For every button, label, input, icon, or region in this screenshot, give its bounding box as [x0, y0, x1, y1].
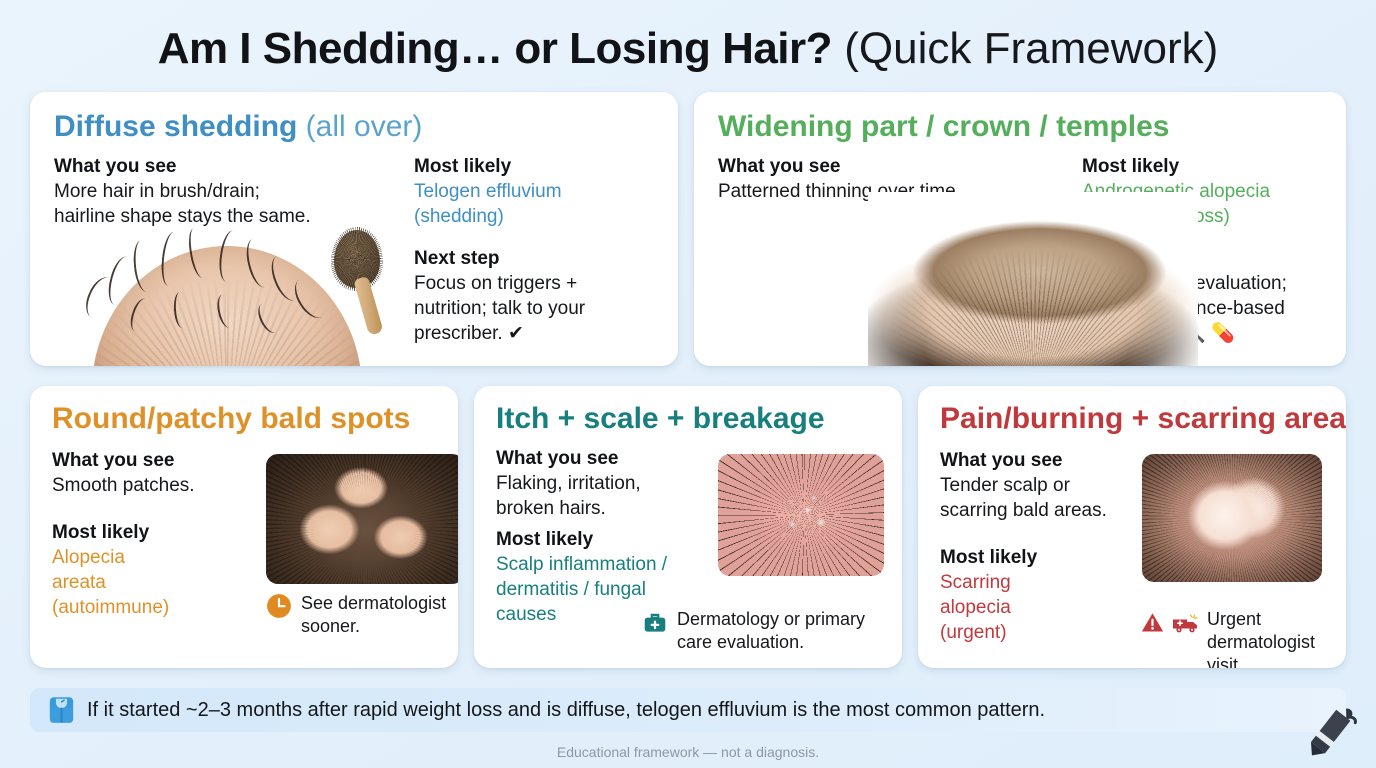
- card-itch-note-text: Dermatology or primary care evaluation.: [677, 608, 865, 654]
- card-itch-title-main: Itch + scale + breakage: [496, 402, 825, 435]
- page-title-main: Am I Shedding… or Losing Hair?: [158, 24, 832, 73]
- inflamed-flaking-scalp-photo: [718, 454, 884, 576]
- card-patchy-what-text: Smooth patches.: [52, 473, 252, 498]
- tip-banner: If it started ~2–3 months after rapid we…: [30, 688, 1346, 732]
- card-pattern-title: Widening part / crown / temples: [718, 110, 1169, 144]
- card-diffuse-likely-text: Telogen effluvium (shedding): [414, 179, 664, 229]
- card-pain-likely-text: Scarring alopecia (urgent): [940, 570, 1150, 645]
- card-itch-likely-label: Most likely: [496, 527, 716, 552]
- card-pain-title-main: Pain/burning + scarring areas: [940, 402, 1346, 435]
- card-patchy-title-main: Round/patchy bald spots: [52, 402, 410, 435]
- weight-scale-icon: [48, 695, 75, 725]
- card-itch-text-column: What you see Flaking, irritation, broken…: [496, 446, 716, 627]
- card-pain-what-label: What you see: [940, 448, 1150, 473]
- ambulance-icon: [1171, 610, 1201, 635]
- card-patchy-likely-text: Alopecia areata (autoimmune): [52, 545, 252, 620]
- card-pattern-title-main: Widening part / crown / temples: [718, 110, 1169, 143]
- card-itch-what-label: What you see: [496, 446, 716, 471]
- card-pattern-likely-label: Most likely: [1082, 154, 1340, 179]
- card-diffuse-title: Diffuse shedding (all over): [54, 110, 422, 144]
- card-patchy-likely-label: Most likely: [52, 520, 252, 545]
- thinning-scalp-with-hairbrush-illustration: [70, 228, 400, 366]
- medical-kit-icon: [642, 610, 668, 636]
- tip-banner-text: If it started ~2–3 months after rapid we…: [87, 698, 1045, 722]
- card-itch-note-row: Dermatology or primary care evaluation.: [642, 608, 894, 654]
- card-diffuse-next-text: Focus on triggers + nutrition; talk to y…: [414, 271, 664, 346]
- card-pain-what-text: Tender scalp or scarring bald areas.: [940, 473, 1150, 523]
- clock-icon: [266, 593, 292, 619]
- card-patchy-note-text: See dermatologist sooner.: [301, 592, 446, 638]
- receding-hairline-photo: [868, 192, 1198, 366]
- card-pain-burning-scarring: Pain/burning + scarring areas What you s…: [918, 386, 1346, 668]
- page-title: Am I Shedding… or Losing Hair? (Quick Fr…: [0, 18, 1376, 80]
- card-patchy-title: Round/patchy bald spots: [52, 402, 410, 436]
- card-pattern-what-label: What you see: [718, 154, 1068, 179]
- page-title-suffix: (Quick Framework): [832, 24, 1218, 73]
- hairbrush-handle: [353, 276, 383, 336]
- hairbrush-icon: [320, 230, 394, 338]
- infographic-page: Am I Shedding… or Losing Hair? (Quick Fr…: [0, 0, 1376, 768]
- pen-icon: [1300, 698, 1362, 764]
- card-pain-text-column: What you see Tender scalp or scarring ba…: [940, 448, 1150, 645]
- card-patchy-text-column: What you see Smooth patches. Most likely…: [52, 448, 252, 620]
- card-diffuse-next-label: Next step: [414, 246, 664, 271]
- card-diffuse-likely-label: Most likely: [414, 154, 664, 179]
- card-diffuse-left-column: What you see More hair in brush/drain; h…: [54, 154, 404, 229]
- card-widening-part: Widening part / crown / temples What you…: [694, 92, 1346, 366]
- warning-triangle-icon: [1140, 610, 1165, 635]
- card-pain-likely-label: Most likely: [940, 545, 1150, 570]
- card-itch-scale-breakage: Itch + scale + breakage What you see Fla…: [474, 386, 902, 668]
- card-diffuse-what-label: What you see: [54, 154, 404, 179]
- footer-disclaimer: Educational framework — not a diagnosis.: [0, 744, 1376, 760]
- card-diffuse-what-text: More hair in brush/drain; hairline shape…: [54, 179, 404, 229]
- card-patchy-bald-spots: Round/patchy bald spots What you see Smo…: [30, 386, 458, 668]
- card-diffuse-right-column: Most likely Telogen effluvium (shedding)…: [414, 154, 664, 346]
- card-pain-note-row: Urgent dermatologist visit.: [1140, 608, 1344, 668]
- card-itch-title: Itch + scale + breakage: [496, 402, 825, 436]
- patchy-bald-spots-photo: [266, 454, 458, 584]
- card-pain-title: Pain/burning + scarring areas: [940, 402, 1346, 436]
- card-diffuse-title-main: Diffuse shedding: [54, 110, 297, 143]
- scarring-alopecia-photo: [1142, 454, 1322, 582]
- card-pain-note-text: Urgent dermatologist visit.: [1207, 608, 1344, 668]
- card-itch-what-text: Flaking, irritation, broken hairs.: [496, 471, 716, 521]
- card-diffuse-title-sub: (all over): [297, 110, 422, 143]
- card-patchy-what-label: What you see: [52, 448, 252, 473]
- card-patchy-note-row: See dermatologist sooner.: [266, 592, 454, 638]
- card-diffuse-shedding: Diffuse shedding (all over) What you see…: [30, 92, 678, 366]
